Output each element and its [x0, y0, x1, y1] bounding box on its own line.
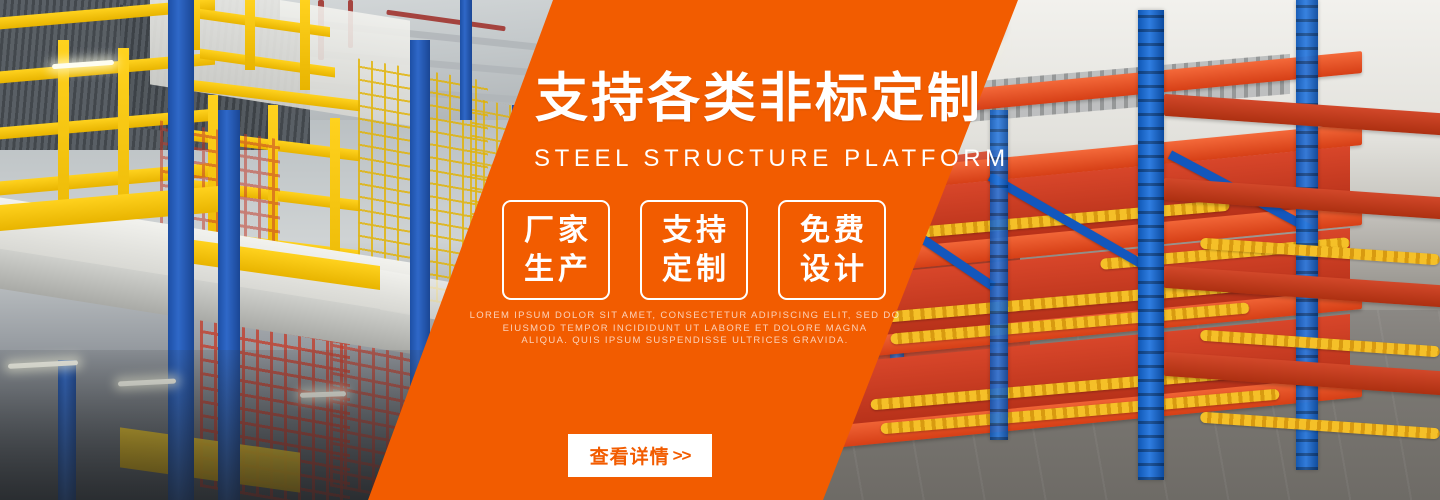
banner-content: 支持各类非标定制 STEEL STRUCTURE PLATFORM 厂家 生产 … — [0, 0, 1440, 500]
promo-banner: 支持各类非标定制 STEEL STRUCTURE PLATFORM 厂家 生产 … — [0, 0, 1440, 500]
badge-line-1: 厂家 — [520, 211, 592, 250]
badge-line-2: 设计 — [796, 250, 868, 289]
description-line-3: ALIQUA. QUIS IPSUM SUSPENDISSE ULTRICES … — [460, 335, 910, 348]
description-line-1: LOREM IPSUM DOLOR SIT AMET, CONSECTETUR … — [460, 310, 910, 323]
page-title: 支持各类非标定制 — [535, 72, 983, 125]
feature-badge-list: 厂家 生产 支持 定制 免费 设计 — [502, 200, 886, 300]
description-line-2: EIUSMOD TEMPOR INCIDIDUNT UT LABORE ET D… — [460, 323, 910, 336]
badge-line-2: 定制 — [658, 250, 730, 289]
subtitle: STEEL STRUCTURE PLATFORM — [534, 145, 1010, 173]
badge-line-1: 支持 — [658, 211, 730, 250]
feature-badge-custom-support: 支持 定制 — [640, 200, 748, 300]
feature-badge-free-design: 免费 设计 — [778, 200, 886, 300]
chevron-right-icon: >> — [673, 446, 691, 466]
badge-line-1: 免费 — [796, 211, 868, 250]
view-details-label: 查看详情 — [590, 442, 670, 469]
view-details-button[interactable]: 查看详情 >> — [568, 434, 712, 477]
badge-line-2: 生产 — [520, 250, 592, 289]
feature-badge-factory-production: 厂家 生产 — [502, 200, 610, 300]
description-text: LOREM IPSUM DOLOR SIT AMET, CONSECTETUR … — [460, 310, 910, 348]
